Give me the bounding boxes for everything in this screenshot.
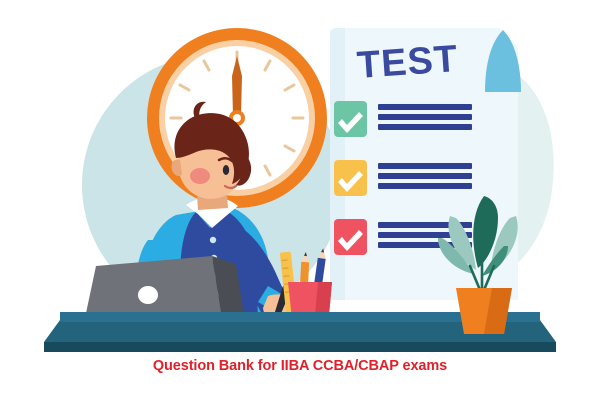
answer-line — [378, 173, 472, 179]
illustration-scene: TEST — [0, 0, 600, 400]
desk-edge — [44, 342, 556, 352]
answer-line — [378, 114, 472, 120]
checkbox-green — [334, 101, 367, 137]
answer-line — [378, 183, 472, 189]
caption-text: Question Bank for IIBA CCBA/CBAP exams — [0, 358, 600, 374]
checkbox-yellow — [334, 160, 367, 196]
clock-center-hole — [233, 114, 241, 122]
answer-line — [378, 104, 472, 110]
test-title: TEST — [356, 38, 460, 87]
answer-line — [378, 163, 472, 169]
cheek — [190, 168, 210, 184]
answer-line — [378, 124, 472, 130]
illustration-canvas: TEST — [0, 0, 600, 400]
checkbox-red — [334, 219, 367, 255]
eye — [223, 165, 229, 175]
laptop-logo — [138, 286, 158, 304]
